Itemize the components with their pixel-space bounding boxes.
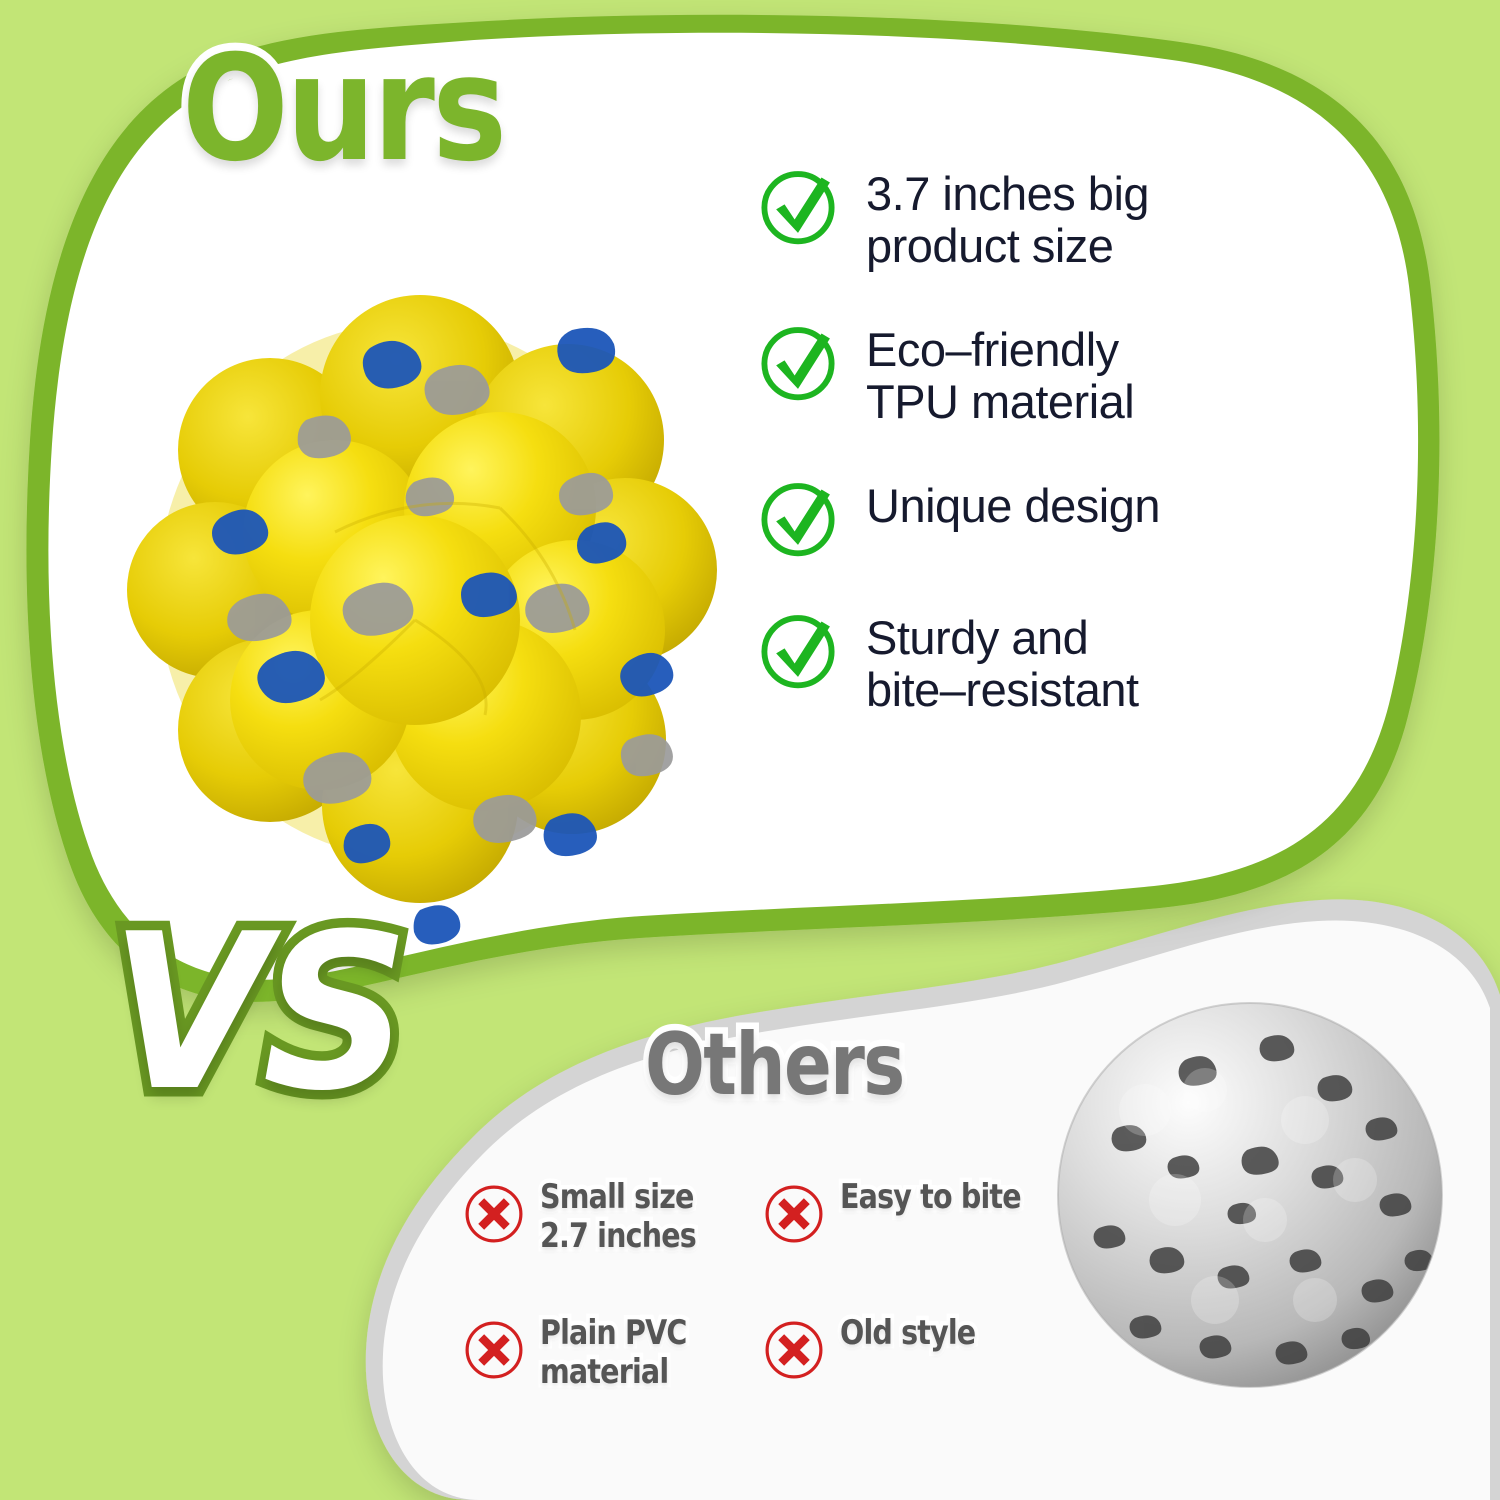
infographic-canvas: Ours 3.7 inches bigproduct size Eco–frie… (0, 0, 1500, 1500)
check-circle-icon (756, 320, 840, 404)
list-item-label: Sturdy andbite–resistant (866, 606, 1139, 716)
cons-row: Small size2.7 inches Easy to bite (462, 1178, 1082, 1256)
list-item-label: Old style (840, 1314, 975, 1353)
page-title-ours: Ours (182, 36, 504, 182)
section-title-others: Others (645, 1022, 904, 1108)
cross-circle-icon (762, 1318, 826, 1382)
list-item-label: Unique design (866, 474, 1160, 532)
list-item-label: 3.7 inches bigproduct size (866, 162, 1149, 272)
check-circle-icon (756, 164, 840, 248)
versus-label: VS (110, 905, 404, 1120)
list-item: 3.7 inches bigproduct size (756, 162, 1236, 272)
list-item: Sturdy andbite–resistant (756, 606, 1236, 716)
list-item-label: Easy to bite (840, 1178, 1021, 1217)
check-circle-icon (756, 476, 840, 560)
list-item: Eco–friendlyTPU material (756, 318, 1236, 428)
list-item-label: Eco–friendlyTPU material (866, 318, 1134, 428)
cross-circle-icon (462, 1182, 526, 1246)
ours-feature-list: 3.7 inches bigproduct size Eco–friendlyT… (756, 162, 1236, 716)
list-item: Easy to bite (762, 1178, 1062, 1256)
list-item: Plain PVCmaterial (462, 1314, 762, 1392)
list-item: Old style (762, 1314, 1062, 1392)
cons-row: Plain PVCmaterial Old style (462, 1314, 1082, 1392)
product-image-others (1058, 1003, 1442, 1387)
list-item: Small size2.7 inches (462, 1178, 762, 1256)
check-circle-icon (756, 608, 840, 692)
list-item-label: Plain PVCmaterial (540, 1314, 687, 1392)
cross-circle-icon (762, 1182, 826, 1246)
list-item: Unique design (756, 474, 1236, 560)
cross-circle-icon (462, 1318, 526, 1382)
others-cons-list: Small size2.7 inches Easy to bite Plain … (462, 1178, 1082, 1392)
list-item-label: Small size2.7 inches (540, 1178, 696, 1256)
